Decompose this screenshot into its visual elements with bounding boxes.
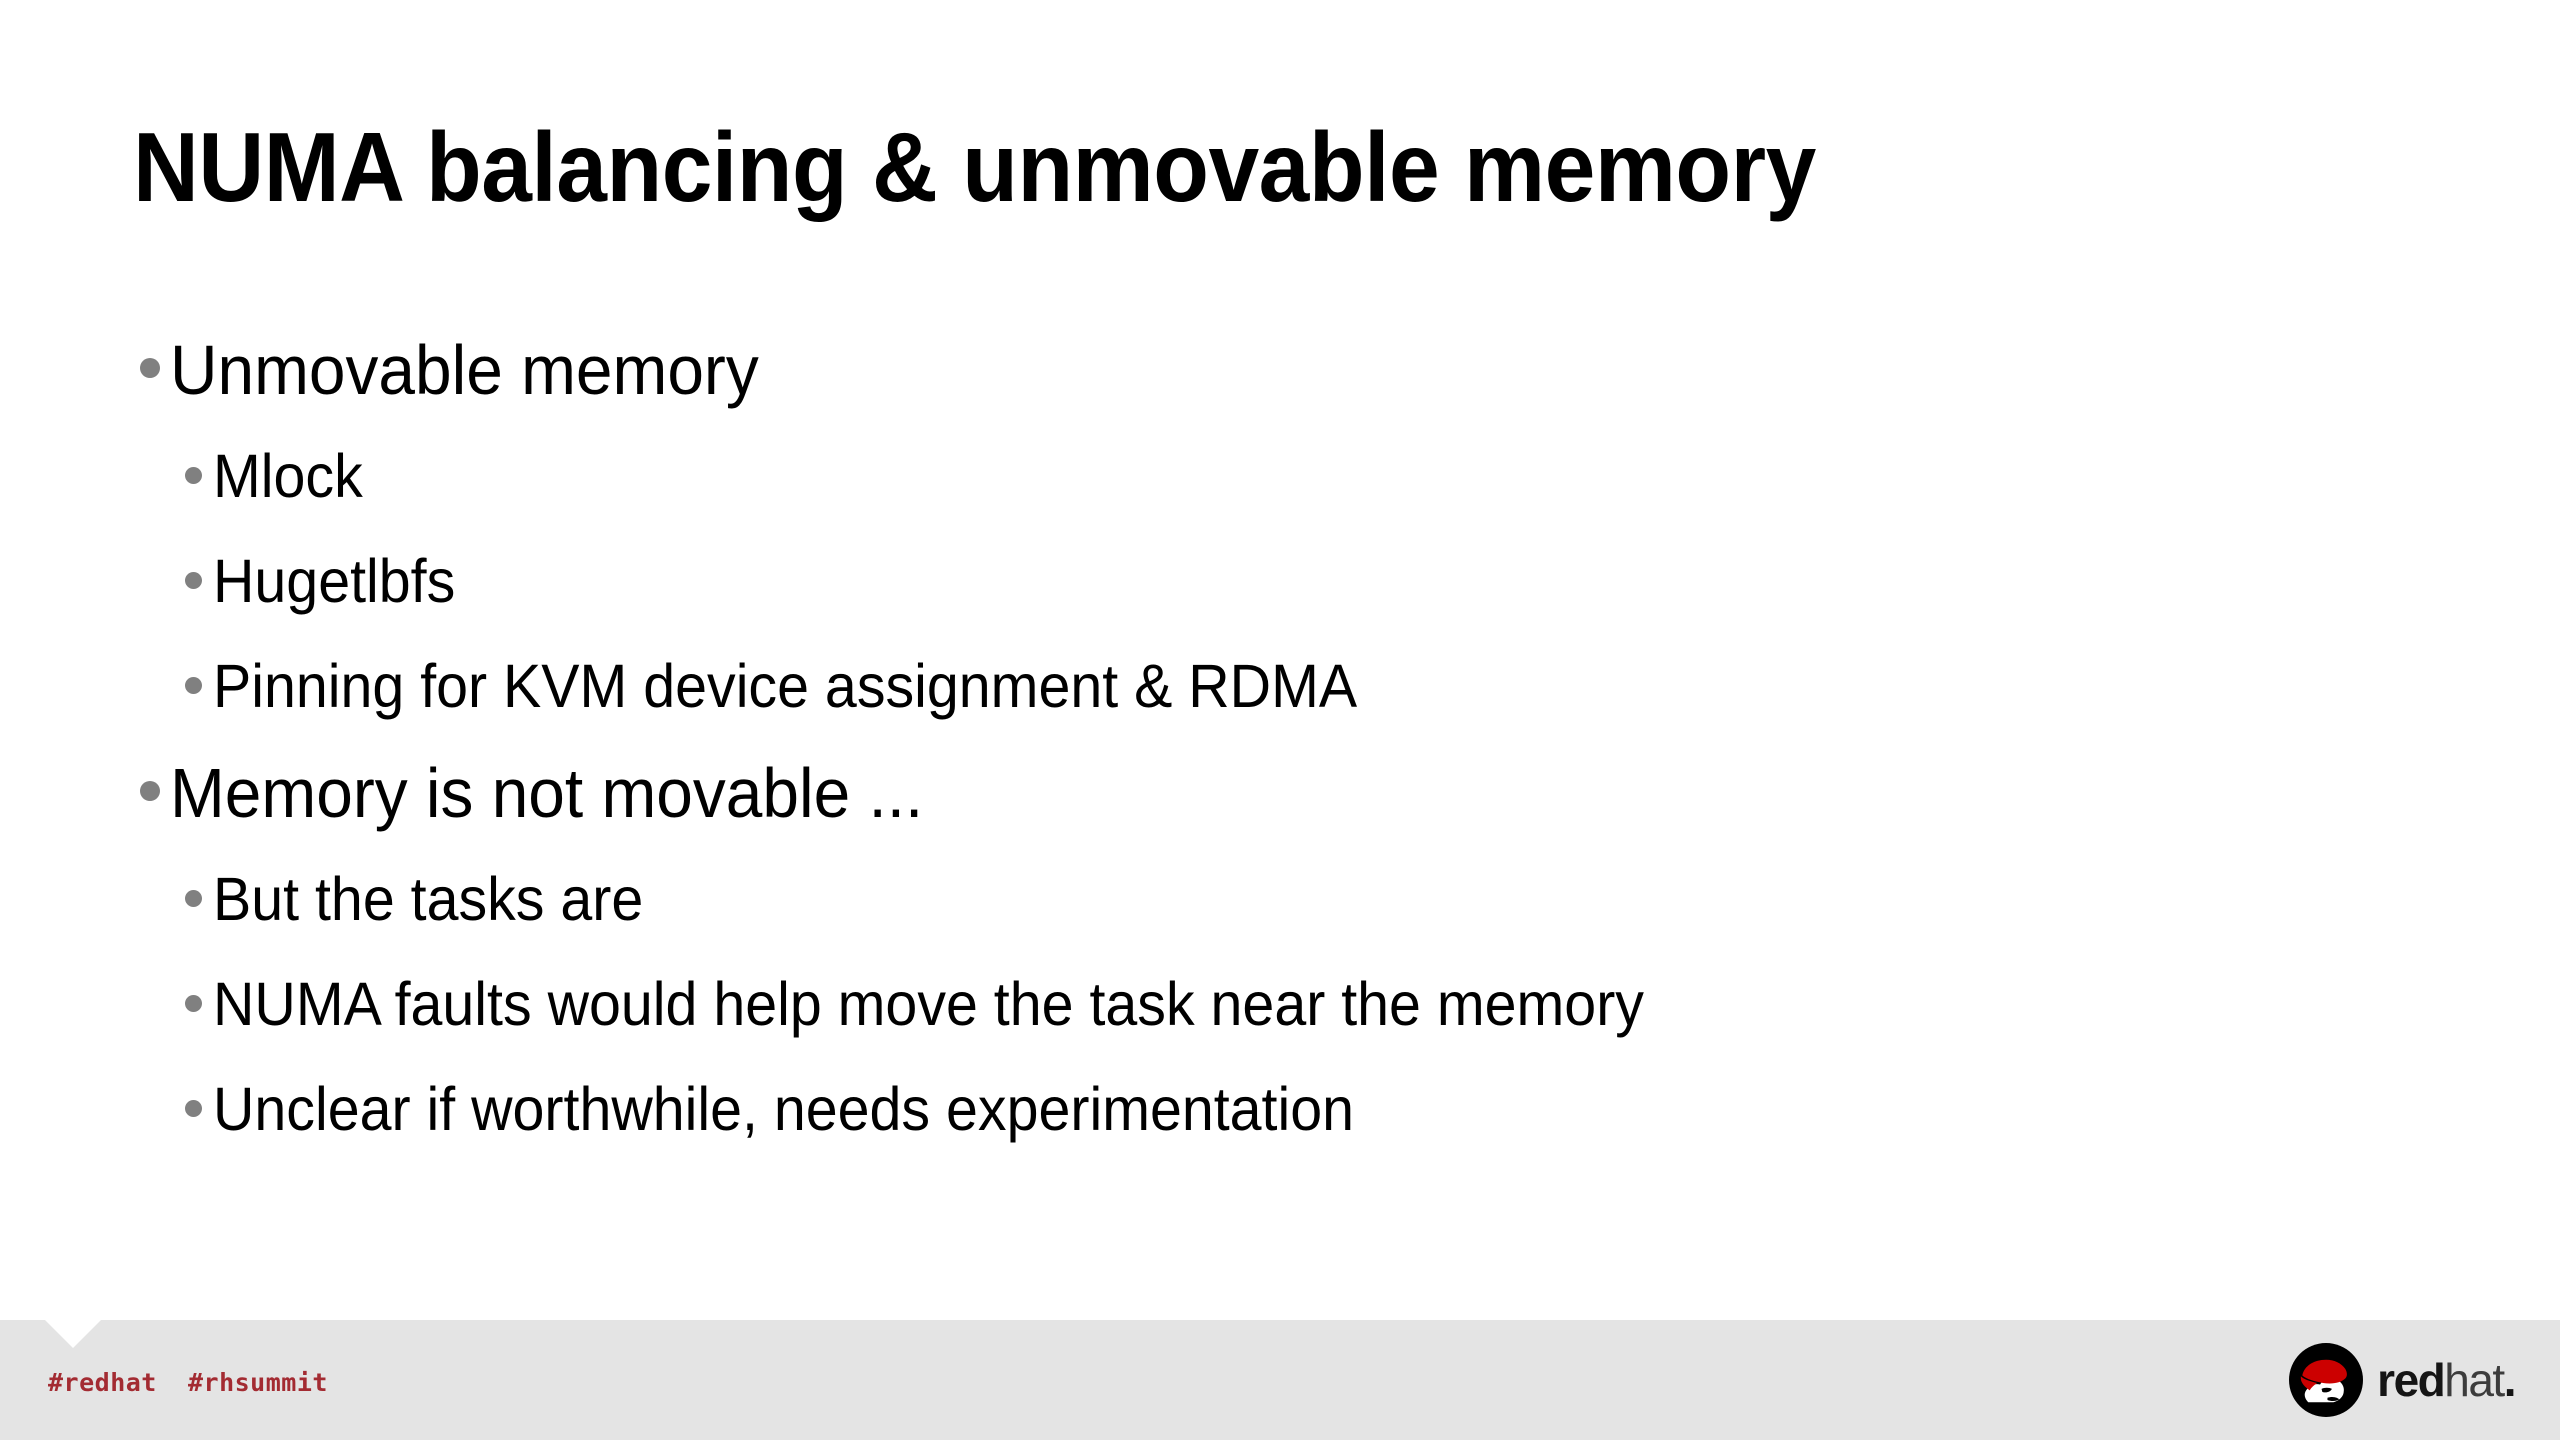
bullet-list: Unmovable memory Mlock Hugetlbfs Pinning… [0,318,2560,1164]
bullet-dot-icon [140,781,160,801]
list-item: Memory is not movable ... [0,741,2560,849]
slide: NUMA balancing & unmovable memory Unmova… [0,0,2560,1440]
list-item: Unclear if worthwhile, needs experimenta… [0,1059,2560,1164]
bullet-dot-icon [185,572,202,589]
list-item-label: Unclear if worthwhile, needs experimenta… [213,1059,1354,1159]
list-item-label: Memory is not movable ... [170,741,923,845]
list-item-label: Pinning for KVM device assignment & RDMA [213,636,1357,736]
wordmark-red: red [2377,1354,2444,1406]
wordmark-hat: hat [2444,1354,2503,1406]
list-item-label: NUMA faults would help move the task nea… [213,954,1644,1054]
redhat-shadowman-icon [2289,1343,2363,1417]
footer-notch-marker [45,1320,101,1348]
redhat-wordmark: redhat. [2377,1357,2515,1403]
page-title: NUMA balancing & unmovable memory [133,118,2179,218]
list-item-label: Hugetlbfs [213,531,455,631]
bullet-dot-icon [185,995,202,1012]
bullet-dot-icon [185,677,202,694]
list-item: Unmovable memory [0,318,2560,426]
footer-hashtags: #redhat #rhsummit [48,1368,328,1397]
list-item: NUMA faults would help move the task nea… [0,954,2560,1059]
list-item-label: But the tasks are [213,849,643,949]
list-item: Mlock [0,426,2560,531]
slide-footer: #redhat #rhsummit redhat. [0,1320,2560,1440]
bullet-dot-icon [185,890,202,907]
list-item: Hugetlbfs [0,531,2560,636]
list-item: But the tasks are [0,849,2560,954]
bullet-dot-icon [185,1100,202,1117]
list-item-label: Unmovable memory [170,318,759,422]
list-item: Pinning for KVM device assignment & RDMA [0,636,2560,741]
bullet-dot-icon [185,467,202,484]
redhat-logo: redhat. [2289,1343,2515,1417]
wordmark-dot: . [2504,1354,2515,1406]
bullet-dot-icon [140,358,160,378]
list-item-label: Mlock [213,426,363,526]
